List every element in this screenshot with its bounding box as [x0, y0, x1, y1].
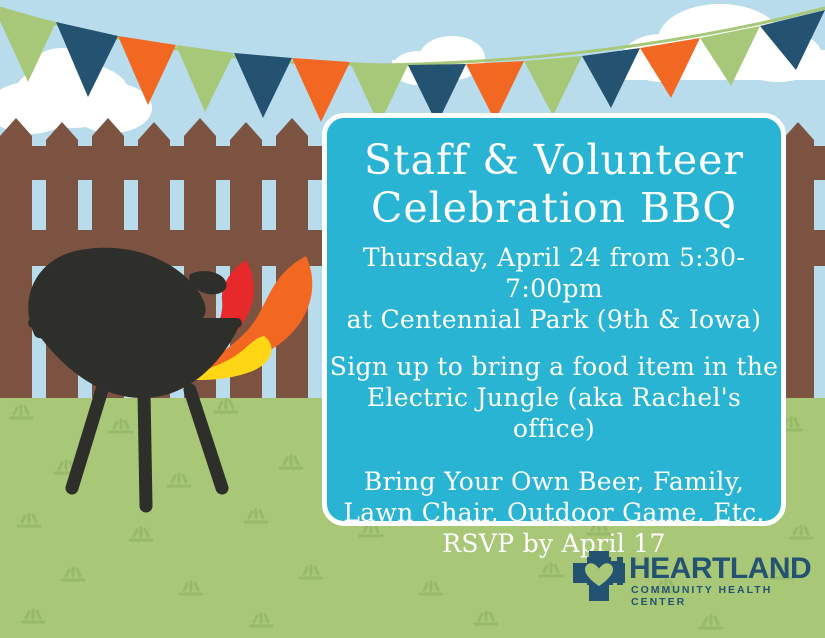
event-poster: Staff & Volunteer Celebration BBQ Thursd…	[0, 0, 825, 638]
heartland-logo: HEARTLAND COMMUNITY HEALTH CENTER	[573, 551, 788, 601]
bunting-flag	[760, 10, 825, 70]
byo-line-1: Bring Your Own Beer, Family,	[327, 466, 781, 497]
page-title: Staff & Volunteer Celebration BBQ	[327, 136, 781, 232]
grass-tuft	[790, 526, 812, 538]
grass-tuft	[22, 610, 44, 622]
grass-tuft	[180, 582, 202, 594]
bunting-flag	[176, 45, 234, 112]
bunting-flag	[0, 8, 56, 82]
grass-tuft	[475, 612, 497, 624]
logo-wordmark: HEARTLAND	[629, 553, 811, 585]
signup-instructions-block: Sign up to bring a food item in the Elec…	[327, 351, 781, 444]
bunting-flag	[582, 48, 640, 108]
grass-tuft	[420, 582, 442, 594]
title-line-2: Celebration BBQ	[327, 184, 781, 232]
signup-line-1: Sign up to bring a food item in the	[327, 351, 781, 382]
event-datetime-block: Thursday, April 24 from 5:30-7:00pm at C…	[327, 242, 781, 335]
grass-tuft	[300, 566, 322, 578]
event-location: at Centennial Park (9th & Iowa)	[327, 304, 781, 335]
byo-instructions-block: Bring Your Own Beer, Family, Lawn Chair,…	[327, 466, 781, 559]
cross-with-heart-icon	[573, 551, 625, 601]
bunting-string	[0, 8, 825, 65]
bunting-flag	[234, 53, 292, 118]
event-info-card: Staff & Volunteer Celebration BBQ Thursd…	[322, 113, 786, 526]
event-datetime: Thursday, April 24 from 5:30-7:00pm	[327, 242, 781, 304]
grass-tuft	[62, 568, 84, 580]
bunting-flags	[0, 8, 825, 125]
byo-line-2: Lawn Chair, Outdoor Game, Etc.	[327, 497, 781, 528]
bunting-flag	[118, 36, 176, 105]
bunting-flag	[56, 22, 118, 97]
grass-tuft	[250, 614, 272, 626]
grill-legs	[72, 390, 222, 506]
bunting-flag	[640, 38, 700, 98]
signup-line-2: Electric Jungle (aka Rachel's office)	[327, 382, 781, 444]
title-line-1: Staff & Volunteer	[327, 136, 781, 184]
logo-tagline: COMMUNITY HEALTH CENTER	[631, 584, 788, 608]
charcoal-grill	[14, 238, 344, 538]
grass-tuft	[540, 564, 562, 576]
bunting-flag	[524, 56, 582, 116]
grass-tuft	[700, 616, 722, 628]
